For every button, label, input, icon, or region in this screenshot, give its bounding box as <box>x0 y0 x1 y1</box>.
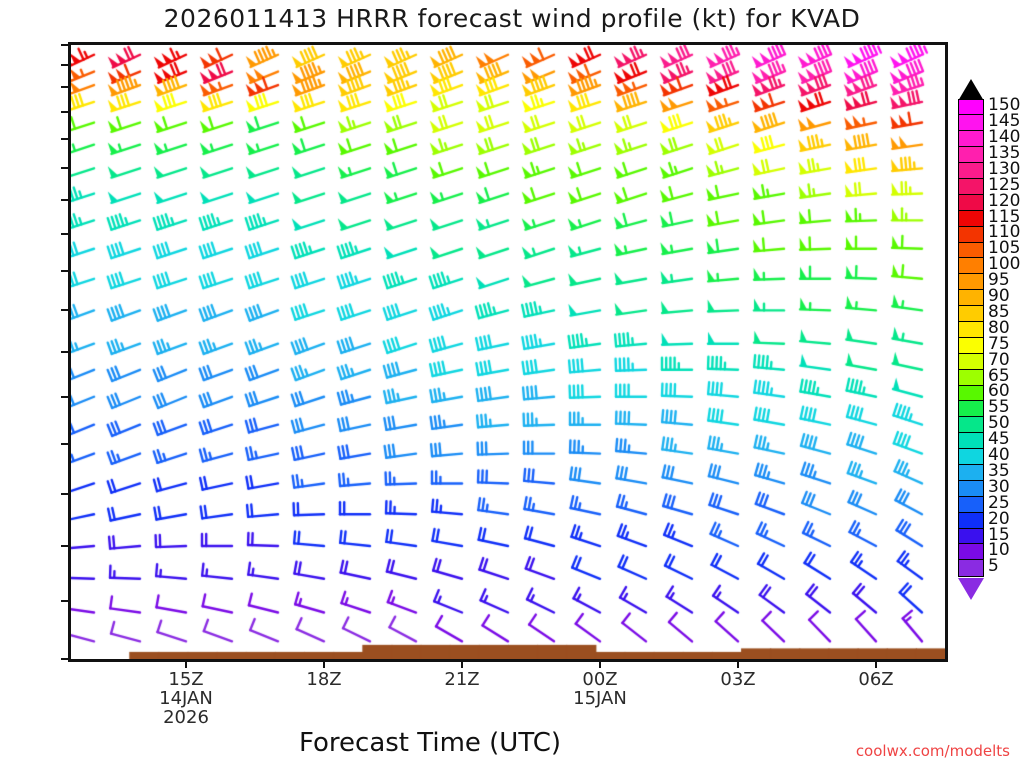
colorbar-swatch <box>958 242 984 259</box>
y-axis-tick-mark <box>61 600 70 602</box>
y-axis-tick-mark <box>61 270 70 272</box>
colorbar-cap-bottom <box>958 578 984 600</box>
x-axis-tick-mark <box>185 660 187 668</box>
y-axis-tick-mark <box>61 199 70 201</box>
colorbar-swatch <box>958 496 984 513</box>
x-axis-tick-mark <box>323 660 325 668</box>
y-axis-tick-mark <box>61 138 70 140</box>
y-axis-tick-mark <box>61 493 70 495</box>
colorbar-swatch <box>958 464 984 481</box>
colorbar-swatch <box>958 210 984 227</box>
colorbar-swatch <box>958 385 984 402</box>
colorbar-swatch <box>958 130 984 147</box>
colorbar-swatch <box>958 273 984 290</box>
x-axis-tick-label: 06Z <box>858 670 893 689</box>
x-axis-tick-label: 15Z 14JAN 2026 <box>159 670 213 727</box>
x-axis-tick-mark <box>737 660 739 668</box>
colorbar-swatch <box>958 448 984 465</box>
x-axis-tick-mark <box>875 660 877 668</box>
colorbar[interactable]: 1501451401351301251201151101051009590858… <box>958 100 984 577</box>
colorbar-swatch <box>958 194 984 211</box>
y-axis-tick-mark <box>61 545 70 547</box>
colorbar-swatch <box>958 353 984 370</box>
x-axis-tick-mark <box>599 660 601 668</box>
watermark: coolwx.com/modelts <box>856 742 1010 760</box>
colorbar-swatch <box>958 480 984 497</box>
y-axis-tick-mark <box>61 443 70 445</box>
colorbar-swatch <box>958 543 984 560</box>
colorbar-swatch <box>958 226 984 243</box>
y-axis-tick-mark <box>61 233 70 235</box>
colorbar-swatch <box>958 416 984 433</box>
colorbar-swatch <box>958 400 984 417</box>
x-axis-tick-label: 00Z 15JAN <box>573 670 627 708</box>
y-axis-tick-mark <box>61 64 70 66</box>
colorbar-swatch <box>958 289 984 306</box>
colorbar-swatch <box>958 257 984 274</box>
y-axis-tick-mark <box>61 658 70 660</box>
y-axis-tick-mark <box>61 111 70 113</box>
colorbar-swatch <box>958 559 984 576</box>
wind-barb-layer <box>71 45 945 659</box>
colorbar-swatch <box>958 114 984 131</box>
colorbar-swatch <box>958 146 984 163</box>
x-axis-tick-mark <box>461 660 463 668</box>
x-axis-title: Forecast Time (UTC) <box>0 728 860 758</box>
colorbar-swatch <box>958 337 984 354</box>
colorbar-tick-label: 5 <box>988 556 999 576</box>
colorbar-swatch <box>958 512 984 529</box>
colorbar-swatch <box>958 432 984 449</box>
y-axis-tick-mark <box>61 309 70 311</box>
x-axis-tick-label: 18Z <box>306 670 341 689</box>
y-axis-tick-mark <box>61 167 70 169</box>
wind-profile-chart: 2026011413 HRRR forecast wind profile (k… <box>0 0 1024 768</box>
y-axis-tick-mark <box>61 86 70 88</box>
y-axis-tick-mark <box>61 351 70 353</box>
colorbar-swatch <box>958 305 984 322</box>
colorbar-swatch <box>958 162 984 179</box>
page-title: 2026011413 HRRR forecast wind profile (k… <box>0 4 1024 33</box>
y-axis-tick-mark <box>61 396 70 398</box>
colorbar-swatch <box>958 178 984 195</box>
x-axis-tick-label: 03Z <box>720 670 755 689</box>
plot-area <box>68 42 948 662</box>
y-axis-tick-mark <box>61 44 70 46</box>
x-axis-tick-label: 21Z <box>444 670 479 689</box>
colorbar-swatch <box>958 321 984 338</box>
colorbar-swatch <box>958 528 984 545</box>
colorbar-swatch <box>958 369 984 386</box>
colorbar-swatch <box>958 99 984 116</box>
